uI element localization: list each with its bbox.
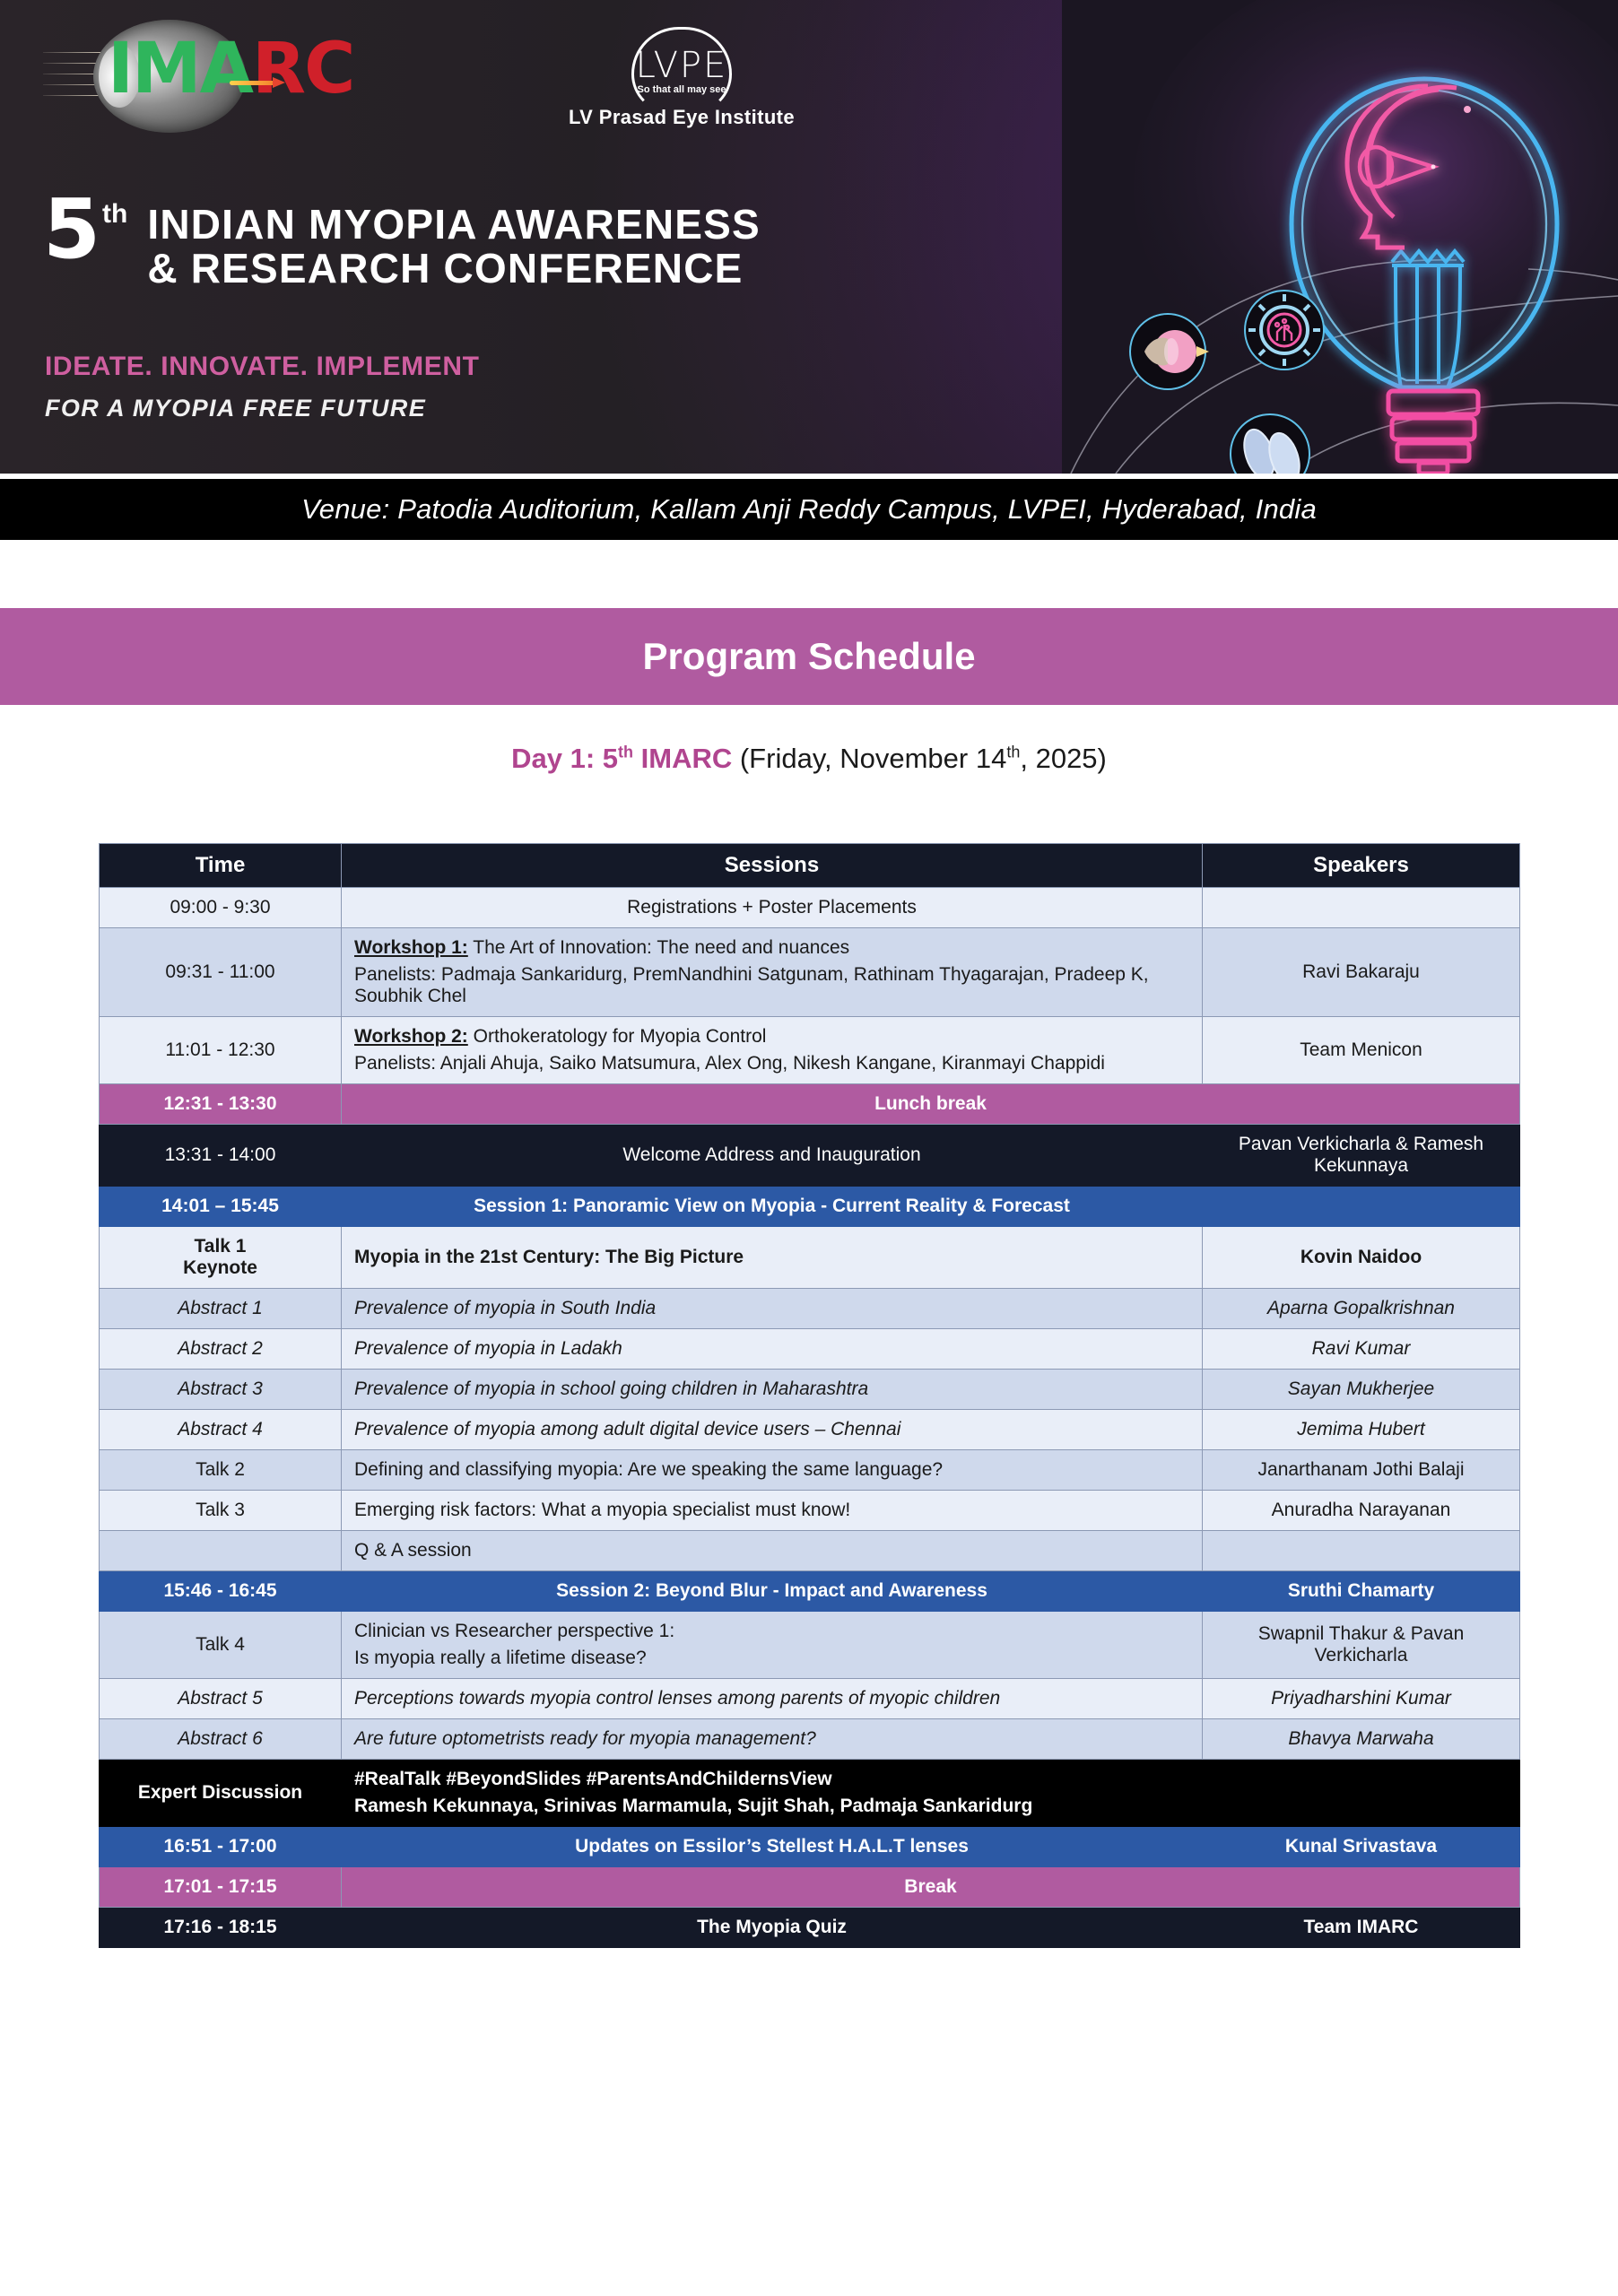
cell-speaker [1203,1531,1520,1571]
cell-speaker [1203,1187,1520,1227]
cell-session: Prevalence of myopia in school going chi… [342,1370,1203,1410]
cell-speaker: Aparna Gopalkrishnan [1203,1289,1520,1329]
day-label-2: IMARC [633,743,732,774]
cell-time: 16:51 - 17:00 [100,1827,342,1867]
cell-session: Are future optometrists ready for myopia… [342,1719,1203,1760]
cell-time: Abstract 6 [100,1719,342,1760]
cell-speaker [1203,888,1520,928]
cell-time: Abstract 1 [100,1289,342,1329]
cell-time: 15:46 - 16:45 [100,1571,342,1612]
cell-time: 11:01 - 12:30 [100,1017,342,1084]
day-date-b: , 2025) [1020,743,1107,774]
cell-session: The Myopia Quiz [342,1908,1203,1948]
cell-session: Myopia in the 21st Century: The Big Pict… [342,1227,1203,1289]
imarc-logo: IMARC [38,16,459,133]
cell-session: Session 1: Panoramic View on Myopia - Cu… [342,1187,1203,1227]
workshop-title: The Art of Innovation: The need and nuan… [468,937,849,958]
lvpei-letters: LVPE [636,45,728,86]
table-row: 11:01 - 12:30 Workshop 2: Orthokeratolog… [100,1017,1520,1084]
cell-time [100,1531,342,1571]
cell-time: 09:31 - 11:00 [100,928,342,1017]
cell-speaker: Jemima Hubert [1203,1410,1520,1450]
session-line-1: #RealTalk #BeyondSlides #ParentsAndChild… [354,1769,1507,1790]
column-header-sessions: Sessions [342,844,1203,888]
cell-speaker: Sayan Mukherjee [1203,1370,1520,1410]
program-schedule-header: Program Schedule [0,608,1618,705]
cell-session: Break [342,1867,1520,1908]
workshop-panelists: Panelists: Padmaja Sankaridurg, PremNand… [354,964,1189,1007]
cell-speaker: Pavan Verkicharla & Ramesh Kekunnaya [1203,1125,1520,1187]
day-date-a: (Friday, November 14 [732,743,1006,774]
schedule-table: Time Sessions Speakers 09:00 - 9:30 Regi… [99,843,1520,1948]
cell-session: Emerging risk factors: What a myopia spe… [342,1491,1203,1531]
table-row: Abstract 3 Prevalence of myopia in schoo… [100,1370,1520,1410]
workshop-panelists: Panelists: Anjali Ahuja, Saiko Matsumura… [354,1053,1189,1074]
table-row: Abstract 4 Prevalence of myopia among ad… [100,1410,1520,1450]
cell-speaker: Ravi Bakaraju [1203,928,1520,1017]
cell-speaker: Swapnil Thakur & Pavan Verkicharla [1203,1612,1520,1679]
cell-session: Registrations + Poster Placements [342,888,1203,928]
day-label-sup: th [618,744,633,761]
table-row: 09:00 - 9:30 Registrations + Poster Plac… [100,888,1520,928]
cell-speaker: Team Menicon [1203,1017,1520,1084]
table-row-break: 17:01 - 17:15 Break [100,1867,1520,1908]
session-line-1: Clinician vs Researcher perspective 1: [354,1621,1189,1642]
day-label: Day 1: 5 [511,743,618,774]
cell-session: Workshop 1: The Art of Innovation: The n… [342,928,1203,1017]
ai-gear-icon [1245,291,1324,370]
cell-session: Session 2: Beyond Blur - Impact and Awar… [342,1571,1203,1612]
cell-speaker: Bhavya Marwaha [1203,1719,1520,1760]
cell-time: Abstract 4 [100,1410,342,1450]
cell-speaker: Anuradha Narayanan [1203,1491,1520,1531]
session-line-2: Ramesh Kekunnaya, Srinivas Marmamula, Su… [354,1796,1507,1817]
table-row: Talk 4 Clinician vs Researcher perspecti… [100,1612,1520,1679]
workshop-label: Workshop 2: [354,1026,468,1047]
cell-time: Talk 2 [100,1450,342,1491]
page-title: Program Schedule [642,635,975,678]
table-row: 16:51 - 17:00 Updates on Essilor’s Stell… [100,1827,1520,1867]
cell-time: 13:31 - 14:00 [100,1125,342,1187]
cell-speaker: Sruthi Chamarty [1203,1571,1520,1612]
table-row: Abstract 1 Prevalence of myopia in South… [100,1289,1520,1329]
cell-speaker: Kunal Srivastava [1203,1827,1520,1867]
conference-title-line1: INDIAN MYOPIA AWARENESS [147,201,761,248]
cell-speaker: Kovin Naidoo [1203,1227,1520,1289]
cell-session: Q & A session [342,1531,1203,1571]
neon-lightbulb-graphic [1062,0,1618,474]
cell-time: 14:01 – 15:45 [100,1187,342,1227]
cell-time: Abstract 5 [100,1679,342,1719]
conference-subtagline: FOR A MYOPIA FREE FUTURE [45,395,426,422]
conference-banner: IMARC LVPE So that all may see LV Prasad… [0,0,1618,474]
cell-time: 09:00 - 9:30 [100,888,342,928]
table-row: 17:16 - 18:15 The Myopia Quiz Team IMARC [100,1908,1520,1948]
table-row: Talk 1Keynote Myopia in the 21st Century… [100,1227,1520,1289]
cell-time: Talk 3 [100,1491,342,1531]
cell-session: Prevalence of myopia in Ladakh [342,1329,1203,1370]
imarc-wordmark: IMARC [108,34,353,104]
table-row-expert-discussion: Expert Discussion #RealTalk #BeyondSlide… [100,1760,1520,1827]
table-row: Q & A session [100,1531,1520,1571]
cell-session: Defining and classifying myopia: Are we … [342,1450,1203,1491]
workshop-title: Orthokeratology for Myopia Control [468,1026,767,1047]
cell-session: Welcome Address and Inauguration [342,1125,1203,1187]
arrow-icon [230,77,292,88]
table-row: Abstract 5 Perceptions towards myopia co… [100,1679,1520,1719]
imarc-wordmark-red: RC [252,29,353,109]
cell-time: Expert Discussion [100,1760,342,1827]
column-header-speakers: Speakers [1203,844,1520,888]
cell-time: Abstract 2 [100,1329,342,1370]
edition-suffix: th [100,196,127,230]
cell-session: Prevalence of myopia among adult digital… [342,1410,1203,1450]
table-row: Abstract 2 Prevalence of myopia in Ladak… [100,1329,1520,1370]
conference-title-line2: & RESEARCH CONFERENCE [147,245,743,291]
conference-tagline: IDEATE. INNOVATE. IMPLEMENT [45,352,480,382]
cell-speaker: Priyadharshini Kumar [1203,1679,1520,1719]
table-row: 13:31 - 14:00 Welcome Address and Inaugu… [100,1125,1520,1187]
table-row-session-1: 14:01 – 15:45 Session 1: Panoramic View … [100,1187,1520,1227]
cell-time: Talk 4 [100,1612,342,1679]
table-header-row: Time Sessions Speakers [100,844,1520,888]
cell-session: #RealTalk #BeyondSlides #ParentsAndChild… [342,1760,1520,1827]
edition-number: 5 [43,196,100,263]
table-row-lunch-break: 12:31 - 13:30 Lunch break [100,1084,1520,1125]
table-row: 09:31 - 11:00 Workshop 1: The Art of Inn… [100,928,1520,1017]
imarc-wordmark-green: IMA [108,29,252,109]
session-line-2: Is myopia really a lifetime disease? [354,1648,1189,1669]
lvpei-tagline: So that all may see [637,84,726,95]
cell-time: Talk 1Keynote [100,1227,342,1289]
venue-bar: Venue: Patodia Auditorium, Kallam Anji R… [0,479,1618,540]
cell-time: 17:01 - 17:15 [100,1867,342,1908]
column-header-time: Time [100,844,342,888]
conference-title-block: 5 th INDIAN MYOPIA AWARENESS & RESEARCH … [43,196,761,291]
cell-session: Workshop 2: Orthokeratology for Myopia C… [342,1017,1203,1084]
workshop-label: Workshop 1: [354,937,468,958]
cell-session: Perceptions towards myopia control lense… [342,1679,1203,1719]
cell-session: Updates on Essilor’s Stellest H.A.L.T le… [342,1827,1203,1867]
cell-session: Clinician vs Researcher perspective 1: I… [342,1612,1203,1679]
conference-title: INDIAN MYOPIA AWARENESS & RESEARCH CONFE… [127,196,761,291]
day-date-sup: th [1006,744,1020,761]
table-row-session-2: 15:46 - 16:45 Session 2: Beyond Blur - I… [100,1571,1520,1612]
venue-text: Venue: Patodia Auditorium, Kallam Anji R… [301,493,1317,526]
cell-speaker: Ravi Kumar [1203,1329,1520,1370]
cell-time: 12:31 - 13:30 [100,1084,342,1125]
lvpei-logo: LVPE So that all may see LV Prasad Eye I… [565,25,798,129]
cell-session: Lunch break [342,1084,1520,1125]
cell-speaker: Janarthanam Jothi Balaji [1203,1450,1520,1491]
table-row: Talk 3 Emerging risk factors: What a myo… [100,1491,1520,1531]
cell-time: 17:16 - 18:15 [100,1908,342,1948]
table-row: Abstract 6 Are future optometrists ready… [100,1719,1520,1760]
cell-session: Prevalence of myopia in South India [342,1289,1203,1329]
cell-speaker: Team IMARC [1203,1908,1520,1948]
cell-time: Abstract 3 [100,1370,342,1410]
table-row: Talk 2 Defining and classifying myopia: … [100,1450,1520,1491]
day-heading: Day 1: 5th IMARC (Friday, November 14th,… [0,743,1618,775]
